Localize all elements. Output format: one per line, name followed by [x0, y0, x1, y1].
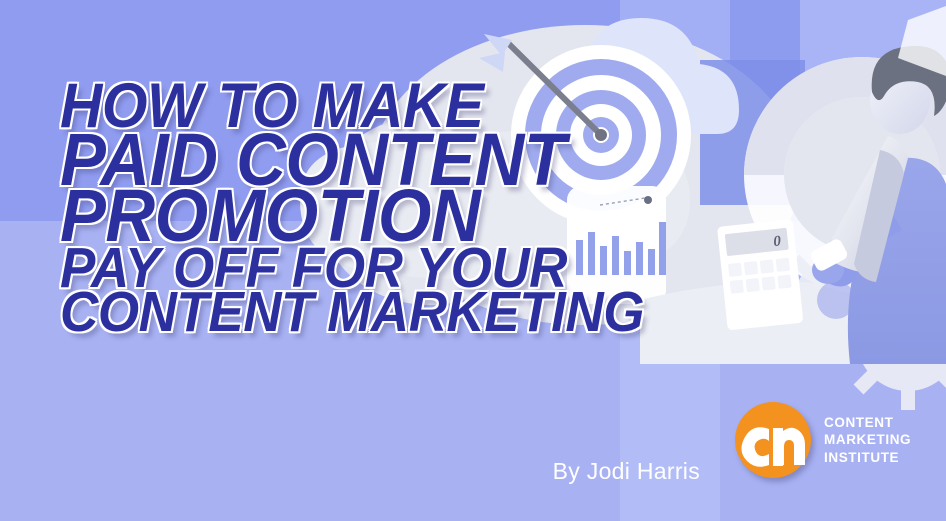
cmi-logo-mark	[735, 402, 811, 478]
title-line-5: CONTENT MARKETING	[60, 289, 674, 337]
cmi-word-institute: INSTITUTE	[824, 449, 911, 467]
cmi-logo-wordmark: CONTENT MARKETING INSTITUTE	[824, 414, 911, 467]
cm-monogram-icon	[735, 402, 811, 478]
banner-graphic: 0	[0, 0, 946, 521]
author-byline: By Jodi Harris	[553, 458, 700, 485]
page-title: HOW TO MAKE PAID CONTENT PROMOTION PAY O…	[60, 80, 720, 337]
cmi-word-content: CONTENT	[824, 414, 911, 432]
cmi-word-marketing: MARKETING	[824, 431, 911, 449]
calculator: 0	[717, 219, 803, 330]
cmi-logo: CONTENT MARKETING INSTITUTE	[735, 402, 911, 478]
